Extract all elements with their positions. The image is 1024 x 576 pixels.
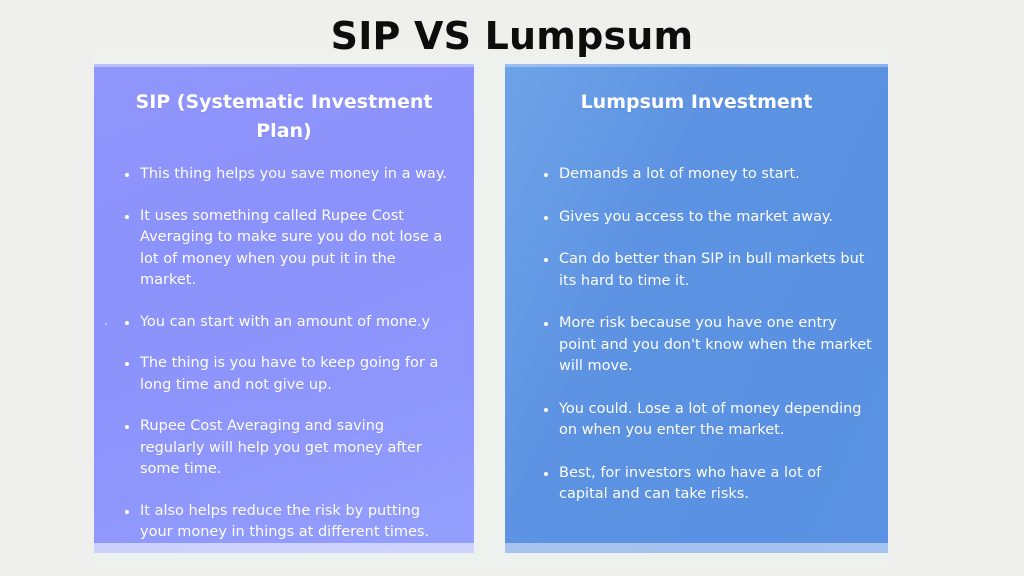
list-item: More risk because you have one entry poi… — [543, 313, 874, 378]
list-item: The thing is you have to keep going for … — [124, 353, 450, 396]
page-title: SIP VS Lumpsum — [0, 14, 1024, 58]
list-item: You could. Lose a lot of money depending… — [543, 399, 874, 442]
list-item: Can do better than SIP in bull markets b… — [543, 249, 874, 292]
comparison-card-lumpsum: Lumpsum Investment Demands a lot of mone… — [505, 64, 888, 553]
comparison-card-sip: SIP (Systematic Investment Plan) This th… — [94, 64, 474, 553]
card-top-accent-strip — [505, 64, 888, 67]
card-heading-sip: SIP (Systematic Investment Plan) — [94, 88, 474, 146]
list-item: It also helps reduce the risk by putting… — [124, 501, 450, 544]
bullet-list-sip: This thing helps you save money in a way… — [94, 164, 474, 553]
bullet-list-lumpsum: Demands a lot of money to start. Gives y… — [505, 164, 888, 527]
card-top-accent-strip — [94, 64, 474, 67]
list-item: Demands a lot of money to start. — [543, 164, 874, 186]
card-bottom-accent-strip — [94, 543, 474, 553]
list-item: Best, for investors who have a lot of ca… — [543, 463, 874, 506]
list-item: It uses something called Rupee Cost Aver… — [124, 206, 450, 292]
list-item: Gives you access to the market away. — [543, 207, 874, 229]
list-item: You can start with an amount of mone.y — [124, 312, 450, 334]
list-item: This thing helps you save money in a way… — [124, 164, 450, 186]
list-item: Rupee Cost Averaging and saving regularl… — [124, 416, 450, 481]
card-bottom-accent-strip — [505, 543, 888, 553]
card-heading-lumpsum: Lumpsum Investment — [505, 88, 888, 117]
